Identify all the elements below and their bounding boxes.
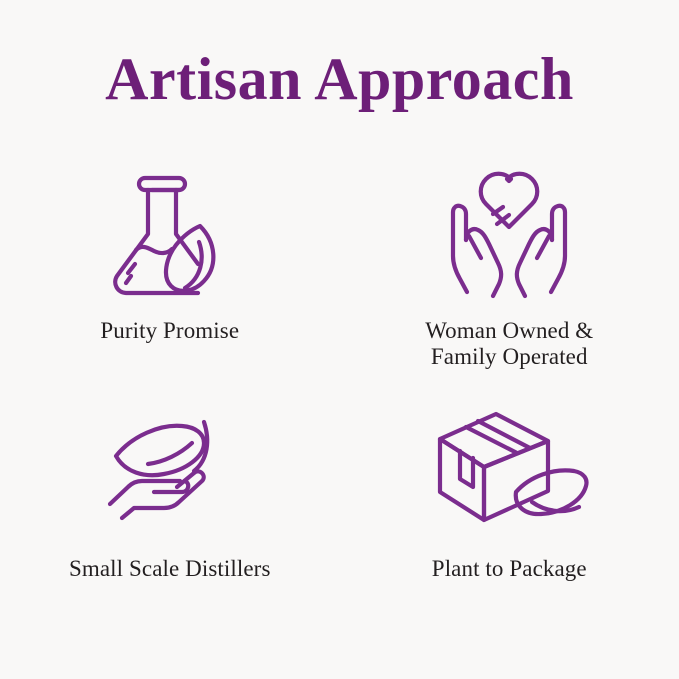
feature-item-plant-to-package: Plant to Package [340,400,679,650]
feature-item-woman-owned: Woman Owned & Family Operated [340,150,679,400]
feature-label: Woman Owned & Family Operated [425,318,593,370]
artisan-approach-panel: Artisan Approach [0,0,679,679]
box-leaf-icon [434,410,584,530]
feature-label: Purity Promise [100,318,239,344]
feature-grid: Purity Promise [0,150,679,650]
feature-label: Small Scale Distillers [69,556,271,582]
feature-item-purity-promise: Purity Promise [0,150,340,400]
hands-heart-icon [434,160,584,300]
feature-label: Plant to Package [432,556,587,582]
leaf-hand-icon [95,410,245,530]
page-title: Artisan Approach [0,44,679,114]
feature-item-small-scale-distillers: Small Scale Distillers [0,400,340,650]
flask-leaf-icon [95,160,245,300]
